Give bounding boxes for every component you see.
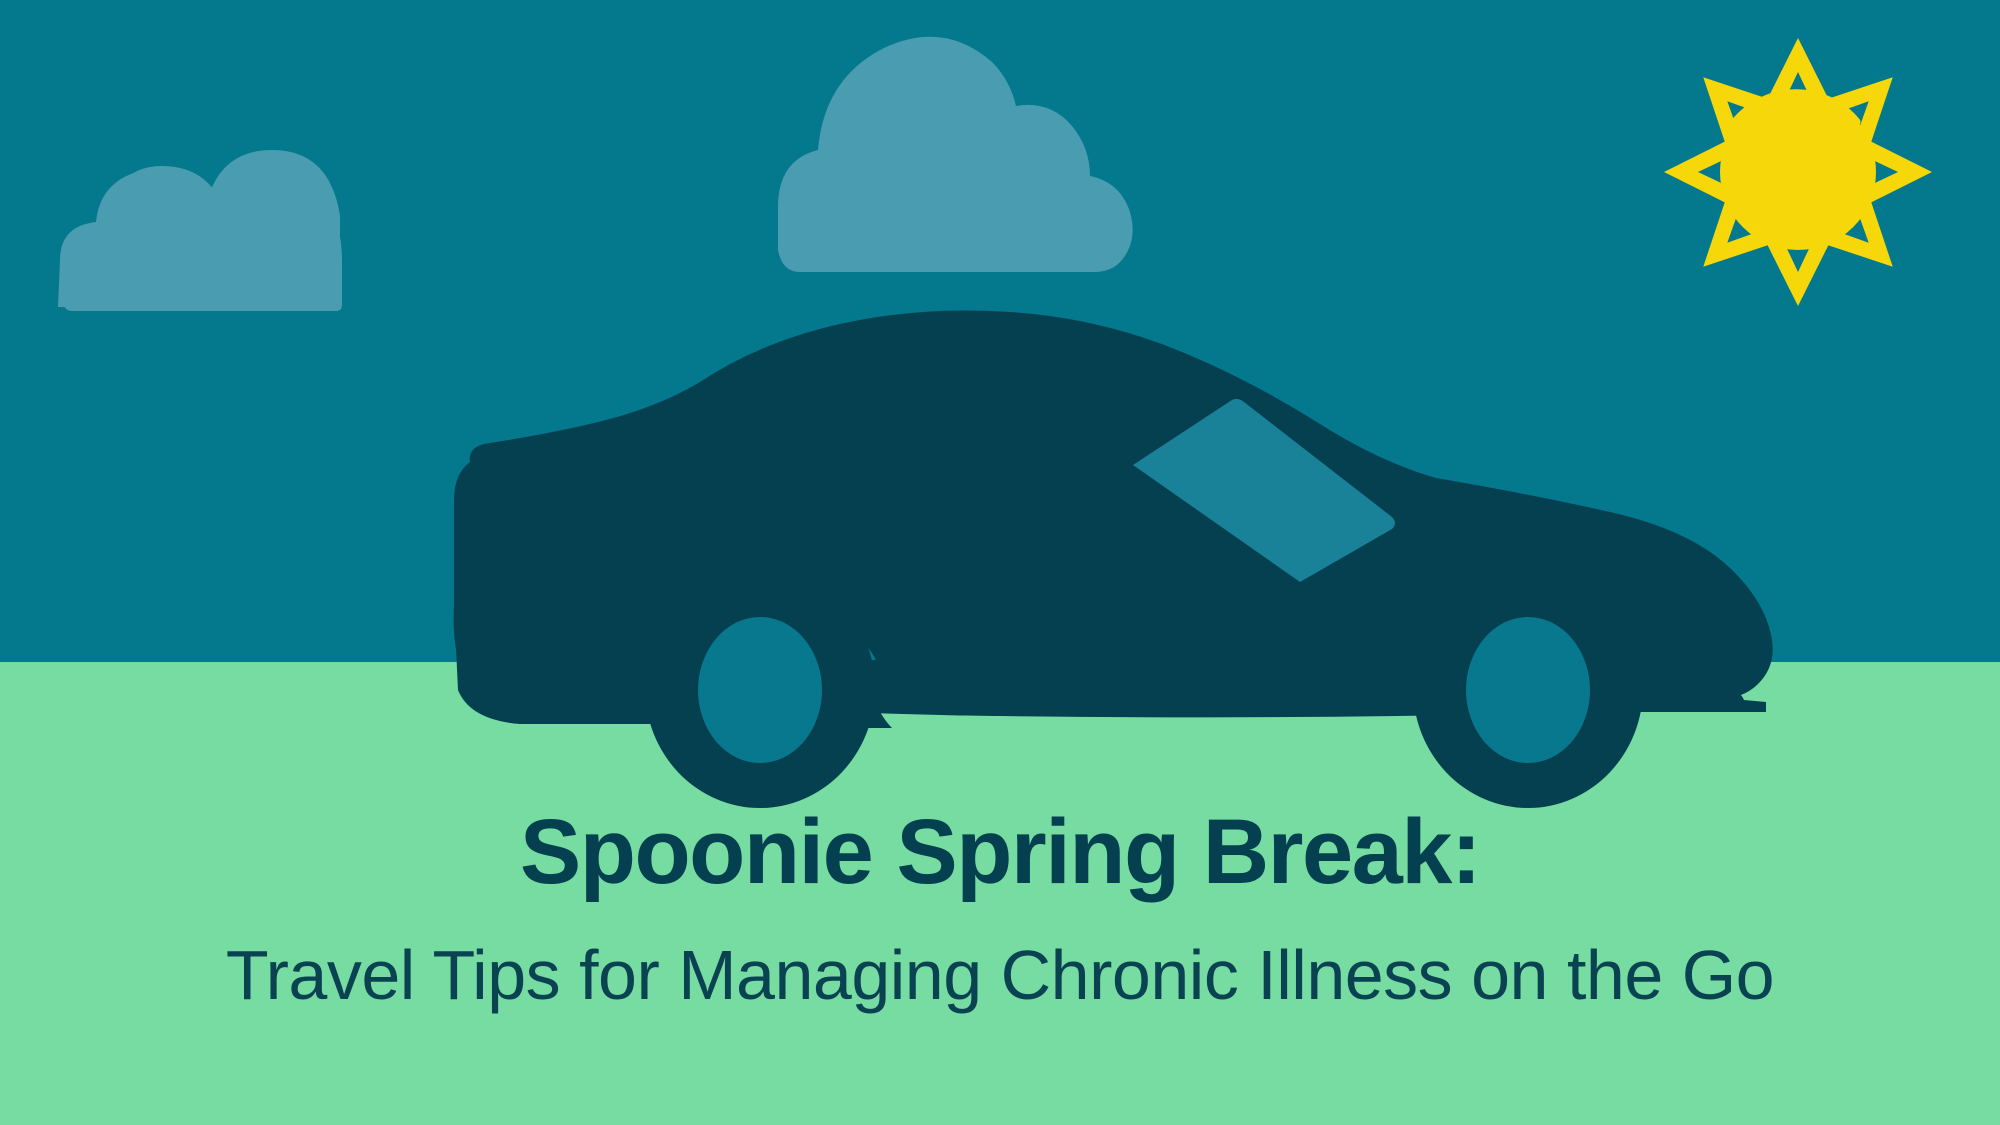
rear-wheel (698, 617, 822, 763)
front-wheel (1466, 617, 1590, 763)
ground-background (0, 662, 2000, 1125)
poster-canvas: Spoonie Spring Break: Travel Tips for Ma… (0, 0, 2000, 1125)
illustration-scene (0, 0, 2000, 1125)
